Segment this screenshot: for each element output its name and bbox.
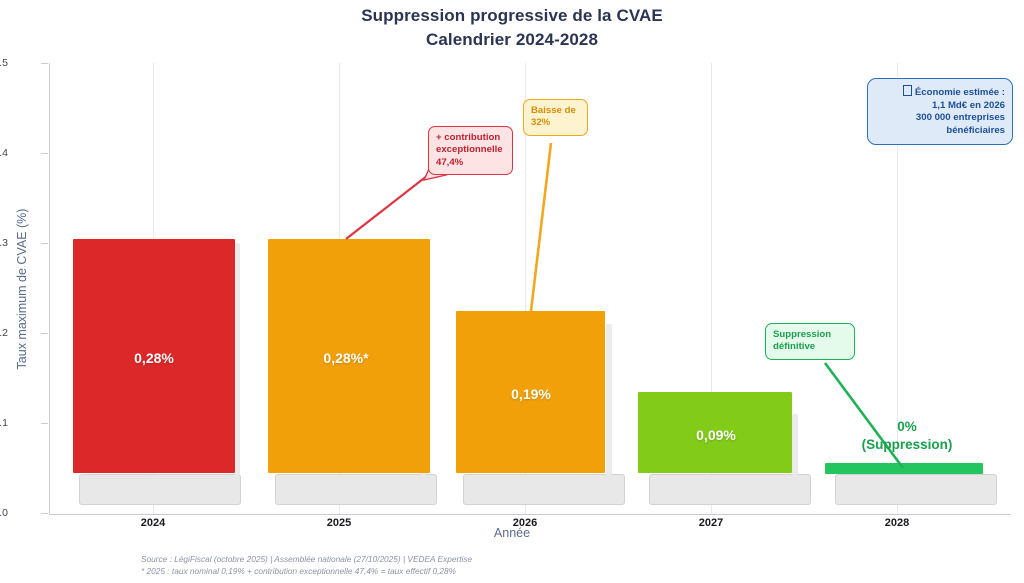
- annotation-callout-2025[interactable]: + contribution exceptionnelle 47,4%: [428, 126, 513, 175]
- y-axis-title: Taux maximum de CVAE (%): [15, 209, 29, 370]
- y-tick-0_5: [41, 63, 48, 64]
- bar-value-2025: 0,28%*: [323, 350, 368, 366]
- annotation-callout-2028[interactable]: Suppression définitive: [765, 323, 855, 360]
- info-box-text: Économie estimée : 1,1 Md€ en 2026 300 0…: [915, 87, 1005, 136]
- y-tick-label-0_0: 0.0: [0, 507, 8, 519]
- x-axis-title: Année: [0, 526, 1024, 540]
- bar-shadow-2027: [649, 474, 811, 505]
- info-box-economie-estimee[interactable]: Économie estimée : 1,1 Md€ en 2026 300 0…: [867, 78, 1013, 145]
- y-tick-label-0_3: 0.3: [0, 237, 8, 249]
- annotation-zero-suppression: 0% (Suppression): [862, 418, 953, 453]
- page-title: Suppression progressive de la CVAE Calen…: [0, 4, 1024, 52]
- bar-shadow-2028: [835, 474, 997, 505]
- bar-edge-shadow-2026: [606, 324, 612, 475]
- y-tick-label-0_5: 0.5: [0, 57, 8, 69]
- y-tick-label-0_2: 0.2: [0, 327, 8, 339]
- y-tick-0_4: [41, 153, 48, 154]
- y-tick-label-0_1: 0.1: [0, 417, 8, 429]
- bar-value-2024: 0,28%: [134, 350, 174, 366]
- y-tick-0_1: [41, 423, 48, 424]
- y-tick-label-0_4: 0.4: [0, 147, 8, 159]
- chart-title-line-2: Calendrier 2024-2028: [0, 28, 1024, 52]
- bar-2028[interactable]: [825, 463, 983, 474]
- bar-value-2027: 0,09%: [696, 427, 736, 443]
- y-tick-0_2: [41, 333, 48, 334]
- chart-title-line-1: Suppression progressive de la CVAE: [361, 6, 663, 25]
- bar-shadow-2025: [275, 474, 437, 505]
- footnotes: Source : LégiFiscal (octobre 2025) | Ass…: [141, 553, 472, 577]
- annotation-callout-2026[interactable]: Baisse de 32%: [523, 99, 588, 136]
- bar-edge-shadow-2027: [792, 414, 798, 475]
- bar-value-2026: 0,19%: [511, 386, 551, 402]
- y-tick-0_0: [41, 513, 48, 514]
- missing-glyph-icon: [903, 85, 912, 96]
- y-tick-0_3: [41, 243, 48, 244]
- bar-shadow-2026: [463, 474, 625, 505]
- bar-shadow-2024: [79, 474, 241, 505]
